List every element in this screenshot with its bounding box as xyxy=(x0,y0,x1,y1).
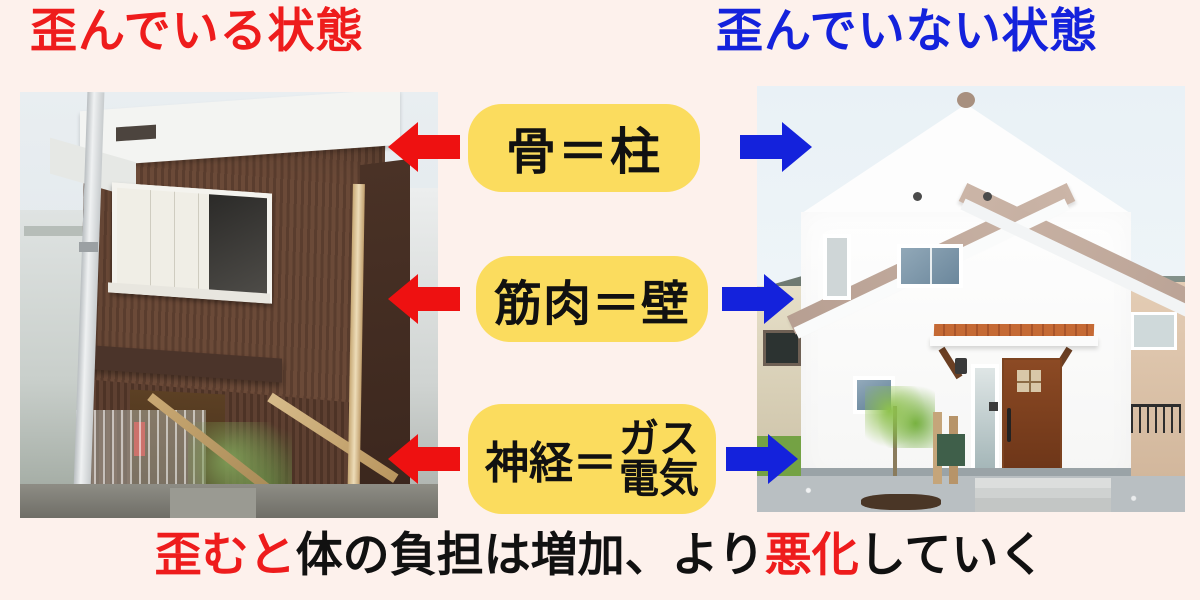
door-sidelight xyxy=(971,364,999,482)
porch-tile-canopy xyxy=(934,324,1094,336)
arrow-right-blue-2 xyxy=(722,272,794,326)
roof-vent xyxy=(116,125,156,142)
slit-window xyxy=(823,234,851,300)
footer-segment-3: 悪化 xyxy=(765,528,859,581)
arrow-right-blue-3 xyxy=(726,432,798,486)
arrow-left-red-1 xyxy=(388,120,460,174)
arrow-right-blue-1 xyxy=(740,120,812,174)
gravel-ground xyxy=(757,476,1185,512)
neighbor-railing xyxy=(1123,404,1181,433)
wall-vent-right xyxy=(983,192,992,201)
mailbox xyxy=(937,434,965,466)
heading-distorted-state: 歪んでいる状態 xyxy=(30,2,364,61)
intercom xyxy=(989,402,998,411)
pole-band xyxy=(79,242,98,252)
badge-nerve-label: 神経＝ xyxy=(485,427,617,491)
footer-caption: 歪むと体の負担は増加、より悪化していく xyxy=(0,524,1200,585)
footer-segment-2: 体の負担は増加、より xyxy=(296,528,765,581)
neighbor-left-window xyxy=(763,330,801,366)
arrow-left-red-2 xyxy=(388,272,460,326)
planting-soil xyxy=(861,494,941,510)
heading-not-distorted-state: 歪んでいない状態 xyxy=(716,2,1098,61)
entry-steps xyxy=(975,478,1111,512)
photo-straight-house xyxy=(757,86,1185,512)
badge-bone-pillar-label: 骨＝柱 xyxy=(506,112,662,184)
badge-nerve-utilities: 神経＝ ガス 電気 xyxy=(468,404,716,514)
arrow-left-red-3 xyxy=(388,432,460,486)
second-floor-window xyxy=(897,244,963,288)
badge-gas-label: ガス xyxy=(619,419,699,459)
badge-muscle-wall: 筋肉＝壁 xyxy=(476,256,708,342)
footer-segment-4: していく xyxy=(859,528,1046,581)
young-tree xyxy=(865,386,935,448)
neighbor-right-window xyxy=(1131,312,1177,350)
porch-canopy-edge xyxy=(930,336,1098,346)
infographic-canvas: 歪んでいる状態 歪んでいない状態 xyxy=(0,0,1200,600)
wall-vent-left xyxy=(913,192,922,201)
roof-ridge-cap xyxy=(957,92,975,108)
photo-distorted-house xyxy=(20,92,438,518)
badge-electricity-label: 電気 xyxy=(619,459,699,499)
footer-segment-1: 歪むと xyxy=(155,528,296,581)
badge-bone-pillar: 骨＝柱 xyxy=(468,104,700,192)
stone-block xyxy=(170,488,256,518)
badge-muscle-wall-label: 筋肉＝壁 xyxy=(494,264,690,334)
porch-lamp xyxy=(955,358,967,374)
door-handle xyxy=(1007,408,1011,442)
door-glass-panel xyxy=(1017,370,1041,392)
